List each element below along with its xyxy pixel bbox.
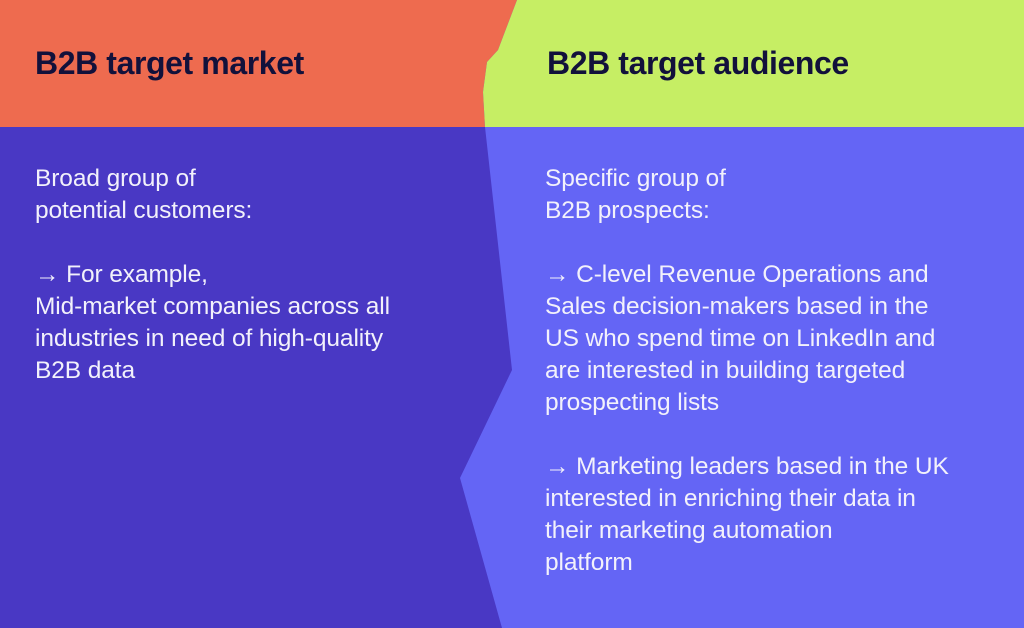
arrow-right-icon: → xyxy=(545,261,576,288)
text-line: → Marketing leaders based in the UK xyxy=(545,451,1007,483)
right-intro-paragraph: Specific group of B2B prospects: xyxy=(545,163,1007,227)
left-example-paragraph: → For example, Mid-market companies acro… xyxy=(35,259,465,387)
right-bullet-2-paragraph: → Marketing leaders based in the UK inte… xyxy=(545,451,1007,579)
text-line-body: Marketing leaders based in the UK xyxy=(576,453,949,480)
text-line: B2B prospects: xyxy=(545,195,1007,227)
text-line: Mid-market companies across all xyxy=(35,291,465,323)
text-line: interested in enriching their data in xyxy=(545,483,1007,515)
text-line: Specific group of xyxy=(545,163,1007,195)
text-line: Broad group of xyxy=(35,163,465,195)
panel-left-body: Broad group of potential customers: → Fo… xyxy=(35,163,465,387)
header-title-target-market: B2B target market xyxy=(35,47,304,79)
text-line: B2B data xyxy=(35,355,465,387)
text-line: → For example, xyxy=(35,259,465,291)
text-line: their marketing automation xyxy=(545,515,1007,547)
arrow-right-icon: → xyxy=(35,261,66,288)
text-line: US who spend time on LinkedIn and xyxy=(545,323,1007,355)
infographic-canvas: B2B target market B2B target audience Br… xyxy=(0,0,1024,628)
arrow-right-icon: → xyxy=(545,453,576,480)
text-line: platform xyxy=(545,547,1007,579)
text-line: potential customers: xyxy=(35,195,465,227)
text-line: Sales decision-makers based in the xyxy=(545,291,1007,323)
text-line: industries in need of high-quality xyxy=(35,323,465,355)
header-title-target-audience: B2B target audience xyxy=(547,47,849,79)
right-bullet-1-paragraph: → C-level Revenue Operations and Sales d… xyxy=(545,259,1007,419)
text-line: prospecting lists xyxy=(545,387,1007,419)
text-line-body: C-level Revenue Operations and xyxy=(576,261,928,288)
text-line: are interested in building targeted xyxy=(545,355,1007,387)
panel-right-body: Specific group of B2B prospects: → C-lev… xyxy=(545,163,1007,579)
text-line: → C-level Revenue Operations and xyxy=(545,259,1007,291)
text-line-body: For example, xyxy=(66,261,208,288)
left-intro-paragraph: Broad group of potential customers: xyxy=(35,163,465,227)
